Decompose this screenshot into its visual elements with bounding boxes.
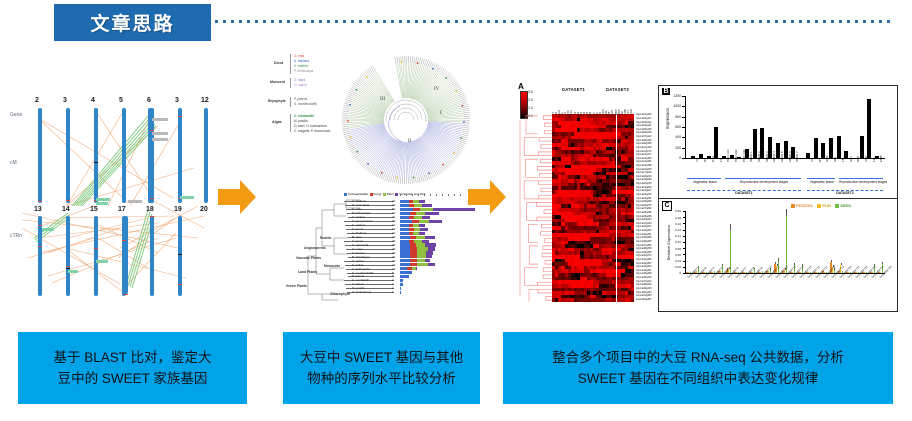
y-tick-label: 0.04	[669, 259, 681, 263]
bar-segment	[414, 216, 421, 219]
heatmap-grid	[552, 114, 634, 302]
heatmap-row-label: Glyma07g142	[636, 135, 652, 138]
gene-count: 1	[392, 290, 394, 294]
legend-swatch-pedicel	[791, 204, 795, 208]
stacked-bar	[400, 232, 425, 235]
heatmap-col-label: SHT	[611, 110, 614, 115]
x-tick-label: R1	[703, 158, 707, 162]
heatmap-row-label: Glyma06g135	[636, 131, 652, 134]
stacked-bar	[400, 208, 475, 211]
x-tick-label: SEED 3	[765, 151, 769, 162]
heatmap-row-label: Glyma03g114	[636, 121, 651, 124]
figure-expression-heatmap: A 3.0 2.0 1.0 0.0 DATASET1 DATASET2 Glym…	[516, 82, 662, 310]
bar-segment	[400, 216, 409, 219]
chromosome-label: 17	[118, 206, 126, 213]
heatmap-row-label: Glyma05g128	[636, 128, 652, 131]
bar-segment	[400, 275, 409, 278]
legend-taxon: Z. mays	[294, 78, 305, 82]
bar	[829, 138, 833, 158]
heatmap-row-label: Glyma18g219	[636, 175, 652, 178]
x-tick-label: POD 10d	[734, 150, 738, 162]
bar-segment	[419, 232, 425, 235]
x-tick-label: SEED 1	[749, 151, 753, 162]
legend-taxon: G. max	[294, 54, 304, 58]
bar-segment	[400, 232, 409, 235]
gene-block	[68, 270, 78, 273]
bar	[860, 136, 864, 158]
dataset-label: DATASET2	[606, 87, 629, 92]
bar-segment	[400, 228, 409, 231]
chart-panel-c: C Relative Expression 00.020.040.060.080…	[658, 198, 898, 312]
chromosome-label: 14	[62, 206, 70, 213]
heatmap-row-label: Glyma49g436	[636, 287, 652, 290]
bar-segment	[422, 204, 432, 207]
y-tick-label: 600	[669, 125, 681, 129]
legend-swatch-fungi	[370, 193, 373, 196]
bar-segment	[400, 259, 410, 262]
bar-segment	[419, 200, 425, 203]
caption-text-1: 基于 BLAST 比对，鉴定大 豆中的 SWEET 家族基因	[45, 347, 219, 389]
heatmap-row-label: Glyma27g282	[636, 207, 652, 210]
stacked-bar	[400, 279, 403, 282]
heatmap-row-label: Glyma11g170	[636, 150, 651, 153]
bar-segment	[426, 255, 432, 258]
clade-label: Vascular Plants	[296, 256, 321, 260]
bar	[814, 138, 818, 158]
stacked-bar	[400, 204, 432, 207]
group-underline-b	[725, 178, 801, 179]
heatmap-row-label: Glyma13g184	[636, 157, 652, 160]
x-tick-label: ATIP	[864, 156, 868, 162]
heatmap-row-label: Glyma39g366	[636, 251, 652, 254]
legend-bracket	[290, 54, 291, 74]
scale-tick: 3.0	[528, 90, 533, 94]
legend-swatch-archaeplastida	[344, 193, 347, 196]
x-tick-label: SFM	[825, 156, 829, 162]
figure-chromosome-synteny: 2 3 4 5 6 3 12 13 14 15 17 18 19 20 Gene…	[8, 88, 213, 310]
y-tick-label: 0.06	[669, 253, 681, 257]
gene-block	[96, 260, 108, 263]
heatmap-row-label: Glyma47g422	[636, 280, 652, 283]
chromosome-label: 12	[201, 97, 209, 104]
dataset-label-b: DATASET1	[687, 191, 801, 195]
bar-segment	[400, 283, 403, 286]
bar-segment	[410, 247, 417, 250]
bar-segment	[400, 212, 410, 215]
figure-c-legend: PEDICEL POD SEED	[791, 203, 851, 208]
legend-taxon: M. pusilla	[294, 119, 307, 123]
bar-segment	[416, 243, 425, 246]
y-tick-label: 800	[669, 115, 681, 119]
clade-label: Land Plants	[298, 270, 317, 274]
heatmap-row-label: Glyma01g100	[636, 113, 652, 116]
heatmap-row-label: Glyma09g156	[636, 142, 652, 145]
bar-segment	[433, 208, 475, 211]
heatmap-row-label: Glyma44g401	[636, 269, 652, 272]
stacked-bar	[400, 247, 435, 250]
error-bar	[831, 260, 832, 262]
caption-text-3: 整合多个项目中的大豆 RNA-seq 公共数据，分析 SWEET 基因在不同组织…	[544, 347, 852, 389]
legend-group-label: Bryophyte	[268, 99, 286, 103]
chromosome-label: 18	[146, 206, 154, 213]
heatmap-row-label: Glyma38g359	[636, 247, 652, 250]
panel-label-a: A	[518, 82, 524, 91]
group-label-b: Vegetative tissue	[807, 180, 837, 184]
bar-segment	[400, 263, 410, 266]
bar-segment	[425, 259, 431, 262]
arrow-1	[216, 178, 258, 216]
x-tick-label: SHT	[849, 156, 853, 162]
legend-swatch-vertebrate	[395, 193, 398, 196]
heatmap-row-label: Glyma12g177	[636, 153, 652, 156]
bar-segment	[428, 247, 435, 250]
heatmap-col-label: S6	[589, 112, 592, 115]
x-tick-label: FB	[841, 158, 845, 162]
heatmap-row-label: Glyma41g380	[636, 258, 652, 261]
figure3-legend: Archaeplastida Fungi Plant Vertebrate an…	[344, 192, 425, 196]
dataset-label: DATASET1	[562, 87, 585, 92]
heatmap-row-label: Glyma46g415	[636, 276, 652, 279]
x-tick-label: LF	[810, 158, 814, 162]
heatmap-row-label: Glyma08g149	[636, 139, 652, 142]
error-bar	[775, 262, 776, 264]
synteny-row-label: cM	[10, 160, 17, 166]
header-dotted-divider	[215, 20, 895, 23]
figure-circular-phylogeny: IIIIIIIV Dicot G. max A. thaliana V. vin…	[268, 52, 500, 187]
clade-label: Angiosperms	[304, 246, 326, 250]
bar-segment	[420, 228, 427, 231]
chromosome-label: 13	[34, 206, 42, 213]
y-tick-label: 0.10	[669, 240, 681, 244]
bar-segment	[400, 287, 401, 290]
x-tick-label: FL	[719, 158, 723, 162]
bar	[784, 141, 788, 158]
synteny-row-label: cTRn	[10, 233, 22, 239]
bar-segment	[400, 200, 409, 203]
bar-segment	[414, 240, 421, 243]
y-tick-label: 0.12	[669, 234, 681, 238]
bar-segment	[400, 267, 407, 270]
stacked-bar	[400, 200, 425, 203]
chromosome-label: 15	[90, 206, 98, 213]
error-bar	[778, 258, 779, 260]
stacked-bar	[400, 267, 417, 270]
stacked-bar	[400, 287, 401, 290]
heatmap-row-label: Glyma16g205	[636, 168, 652, 171]
bar-segment	[417, 255, 426, 258]
gene-block	[128, 200, 142, 203]
error-bar	[882, 262, 883, 264]
scale-tick: 1.0	[528, 106, 533, 110]
heatmap-row-label: Glyma19g226	[636, 178, 652, 181]
chromosome-bar	[204, 108, 208, 203]
gene-block	[96, 198, 110, 201]
heatmap-row-label: Glyma31g310	[636, 222, 652, 225]
x-tick-label: Nod	[711, 156, 715, 162]
clade-label: Monocots	[324, 264, 340, 268]
bar-segment	[400, 224, 409, 227]
stacked-bar	[400, 220, 442, 223]
legend-swatch-plant	[383, 193, 386, 196]
gene-block	[152, 138, 168, 141]
chromosome-bar	[124, 216, 128, 294]
bar-segment	[428, 263, 435, 266]
heatmap-row-label: Glyma30g303	[636, 218, 652, 221]
x-tick-label: Flw	[872, 157, 876, 162]
heatmap-row-label: Glyma23g254	[636, 193, 652, 196]
bar-segment	[400, 279, 403, 282]
bar-segment	[410, 251, 417, 254]
chromosome-label: 5	[119, 97, 123, 104]
chromosome-bar	[148, 108, 152, 203]
figure-species-tree-counts: Archaeplastida Fungi Plant Vertebrate an…	[282, 192, 482, 304]
chromosome-label: 3	[175, 97, 179, 104]
synteny-row-label: Gene	[10, 112, 22, 118]
chromosome-bar	[66, 108, 70, 203]
error-bar	[730, 224, 731, 230]
legend-label-seed: SEED	[840, 203, 851, 208]
heatmap-row-label: Glyma04g121	[636, 124, 652, 127]
bar	[844, 151, 848, 158]
heatmap-row-label: Glyma17g212	[636, 171, 652, 174]
bar-segment	[400, 255, 410, 258]
caption-box-2: 大豆中 SWEET 基因与其他 物种的序列水平比较分析	[283, 332, 480, 404]
bar-segment	[419, 220, 429, 223]
bar-segment	[400, 271, 412, 274]
bar-segment	[400, 251, 410, 254]
stacked-bar	[400, 216, 430, 219]
legend-taxon: P. trichocarpa	[294, 69, 313, 73]
legend-group-label: Monocot	[270, 80, 285, 84]
x-tick-label: WRT	[856, 155, 860, 162]
heatmap-row-label: Glyma36g345	[636, 240, 652, 243]
stacked-bar	[400, 251, 433, 254]
chromosome-label: 19	[174, 206, 182, 213]
svg-text:IV: IV	[434, 87, 440, 92]
bar-segment	[417, 263, 427, 266]
heatmap-row-label: Glyma25g268	[636, 200, 652, 203]
group-underline-b	[839, 178, 883, 179]
bar-segment	[400, 247, 410, 250]
dataset-label-b: DATASET2	[807, 191, 883, 195]
bar-segment	[400, 236, 410, 239]
heatmap-row-label: Glyma52g457	[636, 298, 652, 301]
stacked-bar	[400, 212, 439, 215]
heatmap-row-label: Glyma26g275	[636, 204, 652, 207]
heatmap-row-label: Glyma29g296	[636, 215, 652, 218]
bar-segment	[412, 220, 419, 223]
bar	[714, 127, 718, 159]
stacked-bar	[400, 259, 430, 262]
heatmap-row-label: Glyma32g317	[636, 225, 652, 228]
heatmap-row-label: Glyma48g429	[636, 283, 652, 286]
stacked-bar	[400, 275, 409, 278]
y-tick-label: 0	[669, 156, 681, 160]
bar-segment	[400, 204, 409, 207]
x-tick-label: POD 1cm	[726, 149, 730, 162]
bar-segment	[417, 251, 426, 254]
svg-text:III: III	[380, 97, 385, 102]
chart-panel-b: B Expression 020040060080010001200 YLR1N…	[658, 85, 898, 199]
heatmap-row-label: Glyma35g338	[636, 236, 652, 239]
heatmap-col-label: P14	[570, 110, 573, 115]
bar-segment	[425, 212, 440, 215]
bar-segment	[410, 255, 417, 258]
heatmap-row-label: Glyma15g198	[636, 164, 652, 167]
error-bar	[722, 264, 723, 266]
bar-segment	[422, 216, 431, 219]
bar	[707, 156, 711, 158]
legend-taxon: O. tauri, O. lucimarinus	[294, 124, 327, 128]
chromosome-label: 6	[147, 97, 151, 104]
bar-segment	[400, 220, 412, 223]
caption-box-1: 基于 BLAST 比对，鉴定大 豆中的 SWEET 家族基因	[18, 332, 247, 404]
chromosome-label: 4	[91, 97, 95, 104]
bar-segment	[416, 267, 417, 270]
heatmap-row-label: Glyma02g107	[636, 117, 652, 120]
plot-area-b	[685, 96, 885, 158]
heatmap-row-label: Glyma42g387	[636, 262, 652, 265]
gene-block	[152, 132, 168, 135]
stacked-bar	[400, 236, 435, 239]
stacked-bar	[400, 255, 432, 258]
stacked-bar	[400, 224, 425, 227]
heatmap-row-label: Glyma22g247	[636, 189, 652, 192]
gene-block	[180, 196, 194, 199]
x-tick-label: SEED 5	[780, 151, 784, 162]
stacked-bar	[400, 240, 429, 243]
x-tick-label: SEED 4	[772, 151, 776, 162]
gene-block	[42, 228, 54, 231]
legend-group-label: Dicot	[274, 61, 283, 65]
bar-segment	[425, 243, 437, 246]
legend-bracket	[290, 78, 291, 88]
heatmap-cell	[631, 298, 634, 302]
heatmap-row-label: Glyma20g233	[636, 182, 652, 185]
bar-segment	[417, 247, 427, 250]
y-tick-label: 200	[669, 146, 681, 150]
y-tick-label: 0.20	[669, 209, 681, 213]
bar-segment	[410, 259, 417, 262]
stacked-bar	[400, 283, 403, 286]
legend-taxon: V. vinifera	[294, 64, 308, 68]
heatmap-row-label: Glyma43g394	[636, 265, 652, 268]
heatmap-row-label: Glyma10g163	[636, 146, 652, 149]
svg-text:II: II	[408, 139, 412, 144]
bar-segment	[413, 208, 420, 211]
chromosome-bar	[94, 108, 98, 203]
bar	[837, 136, 841, 158]
legend-bracket	[290, 114, 291, 132]
clade-label: Green Plants	[286, 284, 307, 288]
heatmap-row-label: Glyma45g408	[636, 272, 652, 275]
species-name: O. lucimarinus	[352, 290, 371, 294]
heatmap-row-label: Glyma50g443	[636, 291, 652, 294]
bar-segment	[400, 243, 410, 246]
chromosome-bar	[38, 108, 42, 203]
bar-segment	[420, 208, 433, 211]
legend-taxon: O. sativa	[294, 83, 307, 87]
bar	[730, 155, 734, 158]
heatmap-row-dendrogram	[516, 114, 552, 302]
bar-segment	[400, 291, 401, 294]
gene-block	[96, 202, 108, 205]
heatmap-row-label: Glyma14g191	[636, 160, 652, 163]
caption-text-2: 大豆中 SWEET 基因与其他 物种的序列水平比较分析	[292, 347, 471, 389]
group-label-b: Vegetative tissue	[687, 180, 723, 184]
heatmap-row-label: Glyma33g324	[636, 229, 652, 232]
x-tick-label: SEED 6	[788, 151, 792, 162]
bar-segment	[416, 212, 425, 215]
y-tick-label: 400	[669, 135, 681, 139]
bar	[867, 99, 871, 158]
x-tick-label: SEED 7	[795, 151, 799, 162]
heatmap-dataset-divider	[616, 114, 617, 302]
heatmap-row-label: Glyma24g261	[636, 197, 652, 200]
bar-segment	[419, 224, 425, 227]
x-tick-label: RT	[818, 158, 822, 162]
stacked-bar	[400, 291, 401, 294]
x-tick-label: SPL	[833, 156, 837, 162]
heatmap-row-label: Glyma37g352	[636, 244, 652, 247]
heatmap-row-label: Glyma21g240	[636, 186, 652, 189]
group-label-b: Reproductive development stages	[839, 180, 885, 184]
bar-segment	[425, 236, 435, 239]
y-tick-label: 0.14	[669, 228, 681, 232]
chromosome-bar	[66, 216, 70, 296]
clade-label: Rosids	[320, 236, 331, 240]
slide-canvas: 文章思路	[0, 0, 912, 421]
y-tick-label: 0.16	[669, 222, 681, 226]
y-tick-label: 0	[669, 271, 681, 275]
bar-segment	[429, 220, 442, 223]
chromosome-label: 3	[63, 97, 67, 104]
heatmap-col-label: SAM	[630, 109, 633, 115]
legend-group-label: Algae	[272, 120, 282, 124]
bar-segment	[414, 204, 421, 207]
legend-taxon: A. thaliana	[294, 59, 309, 63]
chromosome-bar	[178, 108, 182, 203]
y-tick-label: 1000	[669, 104, 681, 108]
legend-bracket	[290, 97, 291, 107]
legend-label-pod: POD	[822, 203, 831, 208]
bar-segment	[426, 251, 433, 254]
legend-taxon: S. moellendorffii	[294, 102, 317, 106]
group-underline-b	[687, 178, 721, 179]
heatmap-row-label: Glyma40g373	[636, 254, 652, 257]
bar-segment	[400, 240, 409, 243]
x-tick-label: YL	[695, 158, 699, 162]
y-tick-label: 0.02	[669, 265, 681, 269]
legend-taxon: C. vulgaris, P. tricornutum	[294, 129, 330, 133]
group-label-b: Reproductive development stages	[725, 180, 803, 184]
stacked-bar	[400, 263, 435, 266]
stacked-bar	[400, 271, 412, 274]
stacked-bar	[400, 243, 436, 246]
y-tick-label: 0.08	[669, 247, 681, 251]
x-axis-line-b	[685, 158, 885, 159]
gene-block	[152, 118, 168, 121]
legend-label-pedicel: PEDICEL	[796, 203, 813, 208]
heatmap-row-label: Glyma51g450	[636, 294, 652, 297]
y-tick-label: 0.18	[669, 216, 681, 220]
legend-label: Archaeplastida	[348, 192, 368, 196]
group-underline-b	[807, 178, 835, 179]
x-tick-label: SEED 2	[757, 151, 761, 162]
x-tick-label: EMB	[879, 155, 883, 162]
x-tick-label: POD 14d	[742, 150, 746, 162]
corner-mark	[886, 44, 890, 48]
